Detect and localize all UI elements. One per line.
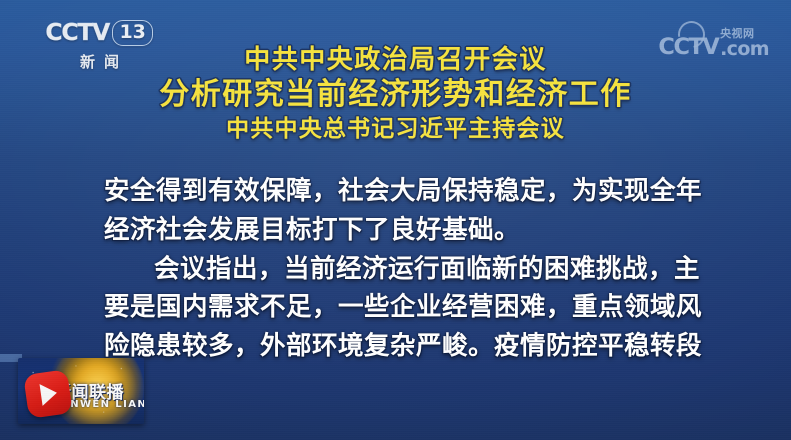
- cctv-com-watermark: CCTV 央视网 .com: [659, 28, 769, 59]
- subtitle-line: 安全得到有效保障，社会大局保持稳定，为实现全年: [104, 172, 704, 211]
- subtitle-line: 经济社会发展目标打下了良好基础。: [104, 211, 704, 250]
- channel-number-badge: 13: [112, 20, 152, 46]
- cctv-com-domain-label: .com: [720, 40, 769, 59]
- subtitle-line: 会议指出，当前经济运行面临新的困难挑战，主: [104, 250, 704, 289]
- headline-line-3: 中共中央总书记习近平主持会议: [0, 117, 791, 142]
- subtitle-block: 安全得到有效保障，社会大局保持稳定，为实现全年 经济社会发展目标打下了良好基础。…: [104, 172, 704, 366]
- channel-name-label: 新闻: [46, 51, 153, 72]
- program-logo-xinwen-lianbo: 新闻联播 XINWEN LIANBO: [18, 358, 144, 424]
- cctv-com-suffix-group: 央视网 .com: [720, 28, 769, 59]
- cctv-wordmark: CCTV: [45, 22, 109, 45]
- channel-bug-cctv13: CCTV 13 新闻: [46, 20, 153, 72]
- cctv-com-wordmark: CCTV: [659, 37, 719, 59]
- subtitle-line: 险隐患较多，外部环境复杂严峻。疫情防控平稳转段: [104, 327, 704, 366]
- channel-bug-row: CCTV 13: [46, 20, 153, 46]
- subtitle-line: 要是国内需求不足，一些企业经营困难，重点领域风: [104, 288, 704, 327]
- headline-line-2: 分析研究当前经济形势和经济工作: [0, 79, 791, 111]
- broadcast-screen: CCTV 13 新闻 CCTV 央视网 .com 中共中央政治局召开会议 分析研…: [0, 0, 791, 440]
- play-button-icon[interactable]: [23, 369, 73, 419]
